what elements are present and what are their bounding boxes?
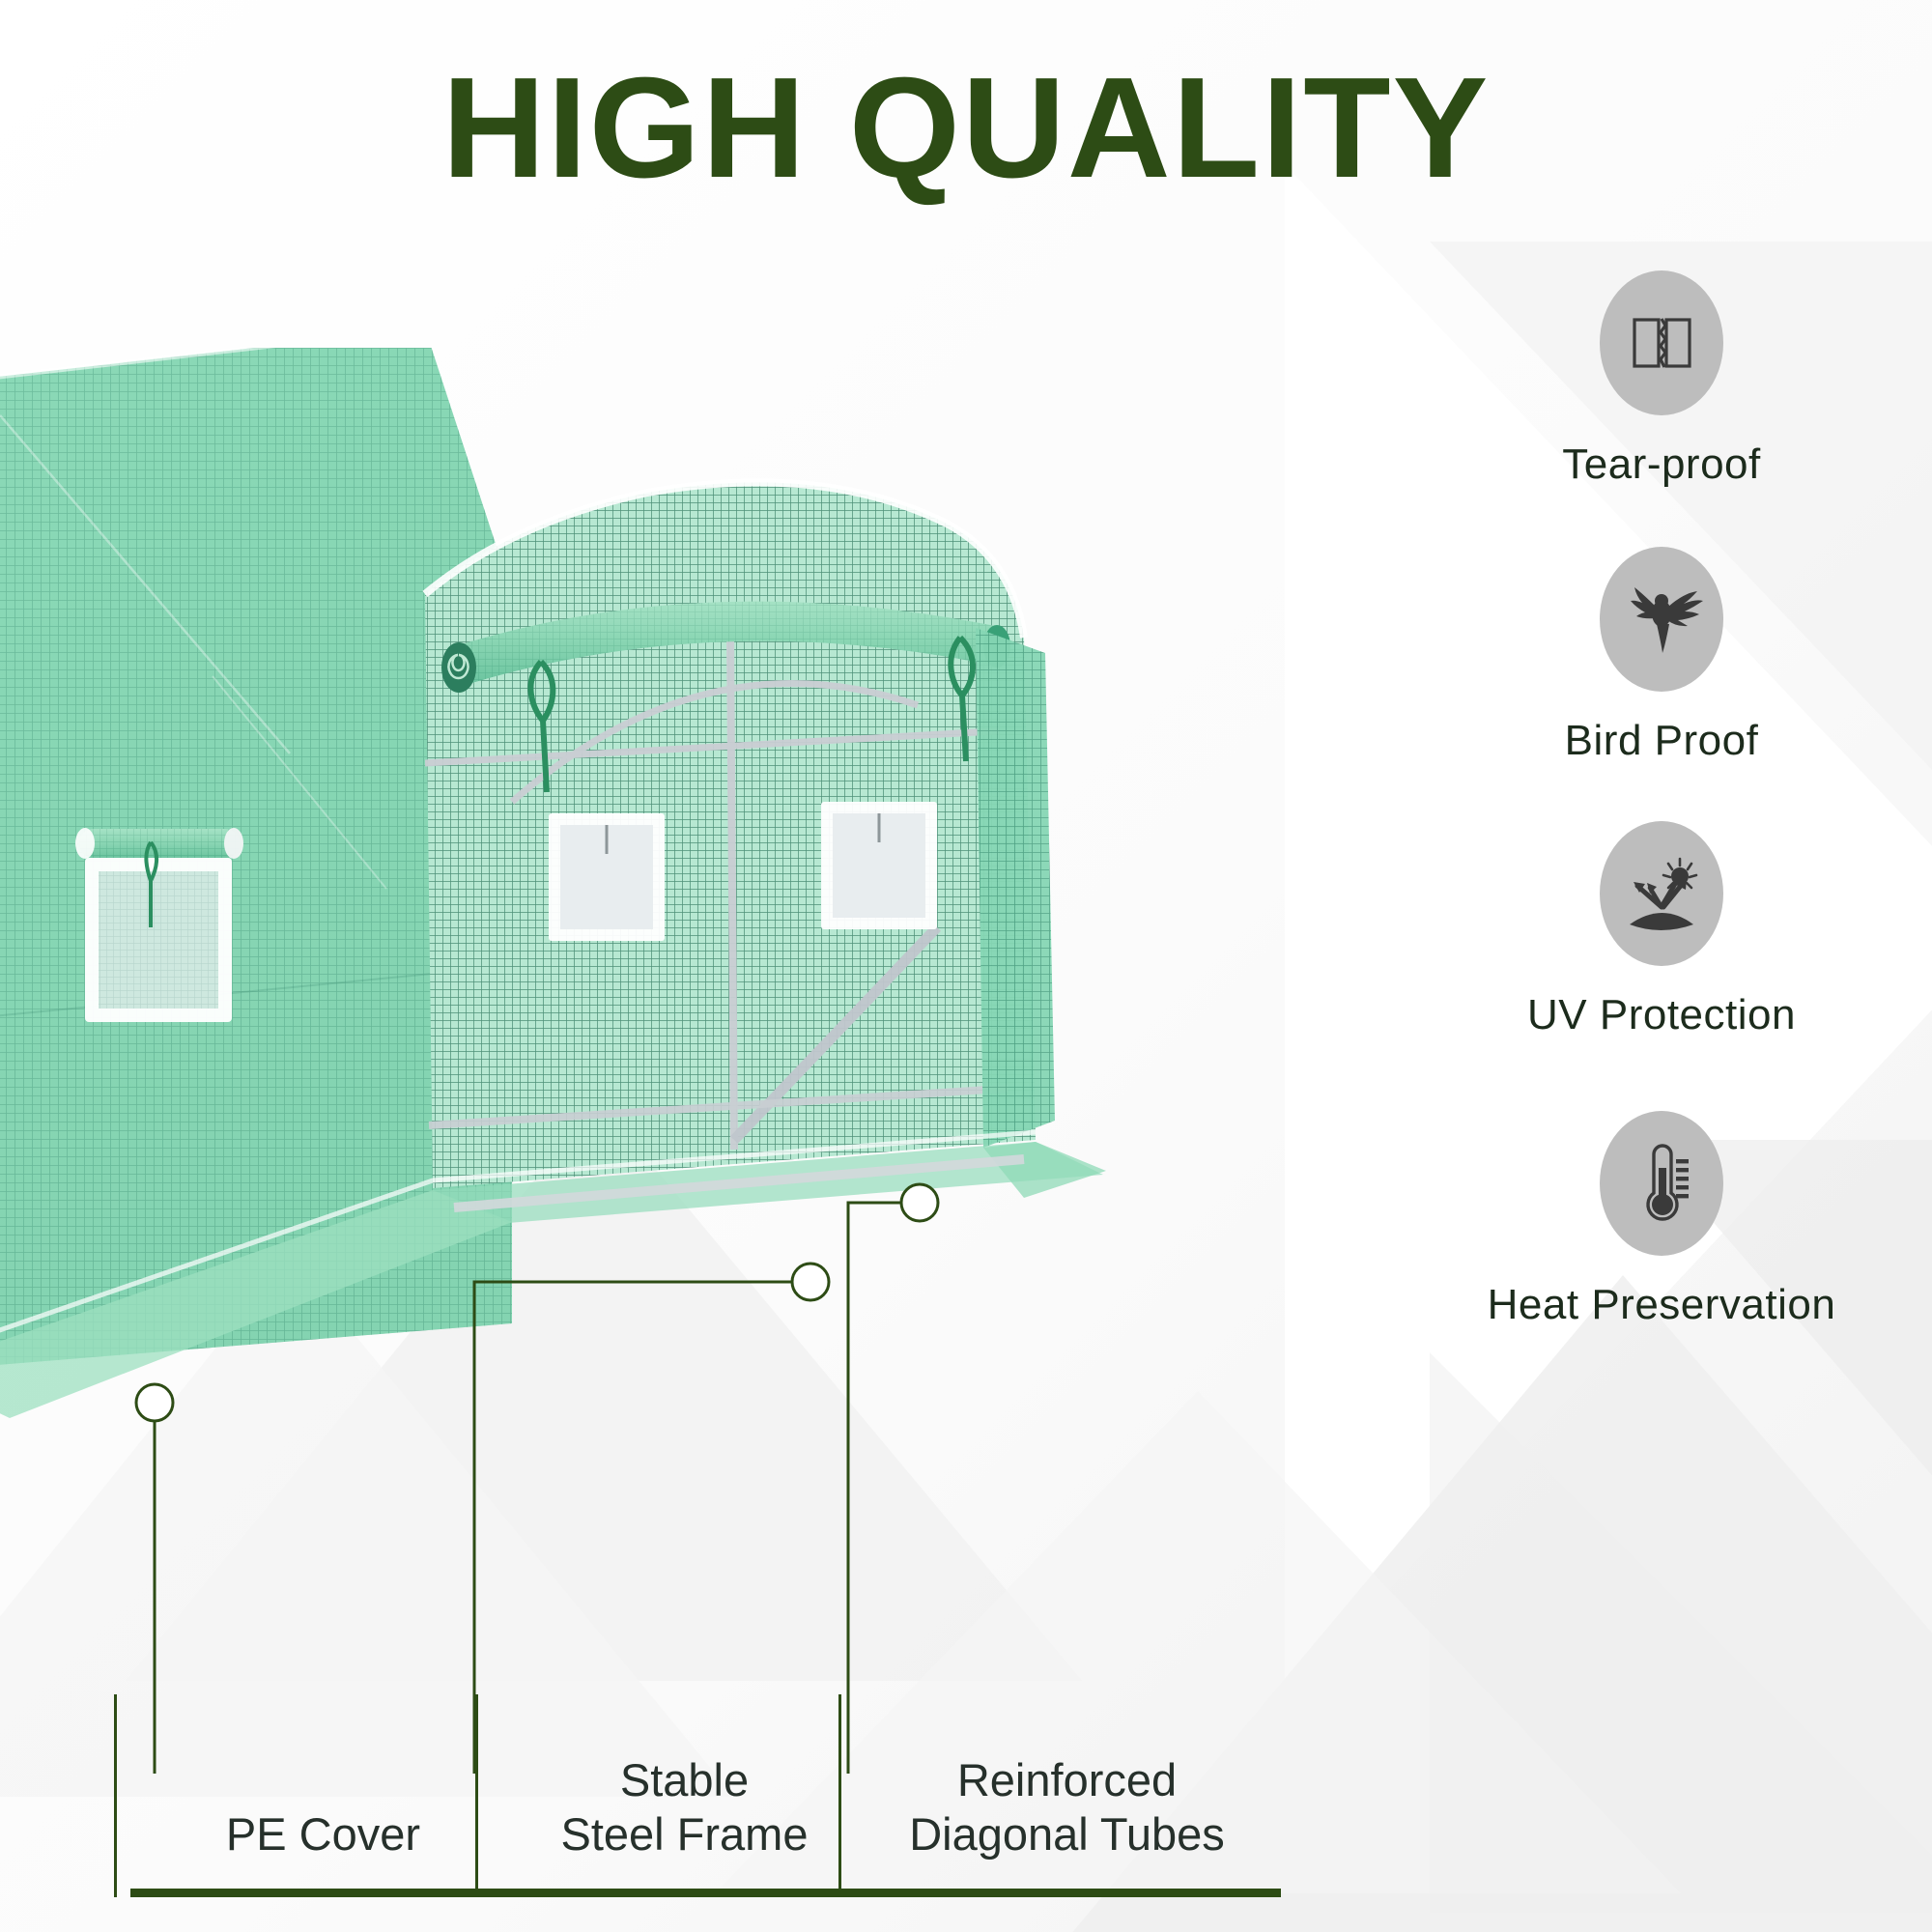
callout-label-pe-cover: PE Cover xyxy=(226,1807,420,1876)
feature-label-uv-protection: UV Protection xyxy=(1527,991,1796,1039)
sun-reflect-icon xyxy=(1600,821,1723,966)
front-window-left xyxy=(549,813,665,941)
feature-list: Tear-proof Bird Proof xyxy=(1391,270,1932,1329)
callout-reinforced-diagonal-tubes: Reinforced Diagonal Tubes xyxy=(838,1694,1293,1897)
page-title: HIGH QUALITY xyxy=(0,46,1932,211)
feature-item-bird-proof: Bird Proof xyxy=(1391,547,1932,765)
bird-icon xyxy=(1600,547,1723,692)
front-window-right xyxy=(821,802,937,929)
torn-fabric-icon xyxy=(1600,270,1723,415)
feature-item-uv-protection: UV Protection xyxy=(1391,821,1932,1039)
feature-label-bird-proof: Bird Proof xyxy=(1565,717,1759,765)
thermometer-icon xyxy=(1600,1111,1723,1256)
callout-stable-steel-frame: Stable Steel Frame xyxy=(475,1694,891,1897)
feature-item-tear-proof: Tear-proof xyxy=(1391,270,1932,489)
callout-underline xyxy=(855,1889,1281,1897)
greenhouse-front-face xyxy=(425,482,1055,1188)
callout-pe-cover: PE Cover xyxy=(114,1694,529,1897)
callout-label-reinforced-diagonal-tubes: Reinforced Diagonal Tubes xyxy=(909,1753,1225,1876)
greenhouse-product-image xyxy=(0,348,1285,1439)
callout-label-stable-steel-frame: Stable Steel Frame xyxy=(561,1753,809,1876)
callout-underline xyxy=(492,1889,879,1897)
feature-label-tear-proof: Tear-proof xyxy=(1562,440,1761,489)
feature-item-heat-preservation: Heat Preservation xyxy=(1391,1111,1932,1329)
feature-label-heat-preservation: Heat Preservation xyxy=(1488,1281,1836,1329)
callout-underline xyxy=(130,1889,518,1897)
side-roll-up-window xyxy=(75,828,243,1022)
callout-row: PE Cover Stable Steel Frame Reinforced D… xyxy=(0,1333,1256,1932)
